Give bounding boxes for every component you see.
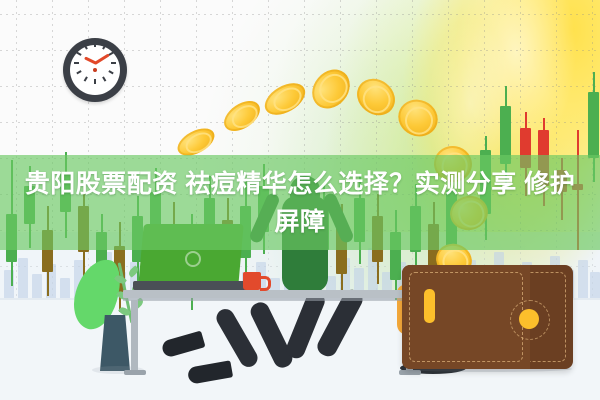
gold-coin bbox=[259, 77, 310, 122]
wallet-card-strip bbox=[424, 289, 435, 323]
wallet-clasp-button bbox=[519, 309, 539, 329]
clock-tick bbox=[94, 79, 96, 84]
clock-center-pin bbox=[93, 68, 97, 72]
wall-clock-icon bbox=[63, 38, 127, 102]
leather-wallet bbox=[402, 265, 573, 369]
desk-top bbox=[123, 290, 420, 298]
desk-foot-left bbox=[124, 370, 146, 375]
coffee-mug bbox=[243, 272, 261, 290]
gold-coin bbox=[350, 71, 402, 122]
clock-tick bbox=[94, 42, 96, 47]
gold-coin bbox=[219, 95, 266, 137]
gold-coin bbox=[392, 93, 443, 142]
clock-tick bbox=[74, 62, 79, 64]
illustration-canvas: 贵阳股票配资 祛痘精华怎么选择？实测分享 修护 屏障 bbox=[0, 0, 600, 400]
gold-coin bbox=[304, 62, 357, 116]
laptop-logo-icon bbox=[185, 251, 201, 267]
laptop-base bbox=[133, 281, 252, 290]
page-title: 贵阳股票配资 祛痘精华怎么选择？实测分享 修护 屏障 bbox=[0, 155, 600, 250]
desk-foot-right bbox=[399, 370, 421, 375]
clock-tick bbox=[111, 62, 116, 64]
desk-top-shadow bbox=[123, 298, 420, 301]
desk-leg-left bbox=[131, 300, 138, 372]
plant-vase bbox=[100, 315, 130, 371]
page-title-line-1: 贵阳股票配资 祛痘精华怎么选择？实测分享 修护 bbox=[25, 165, 575, 203]
coffee-mug-handle bbox=[260, 276, 271, 291]
page-title-line-2: 屏障 bbox=[274, 203, 325, 241]
